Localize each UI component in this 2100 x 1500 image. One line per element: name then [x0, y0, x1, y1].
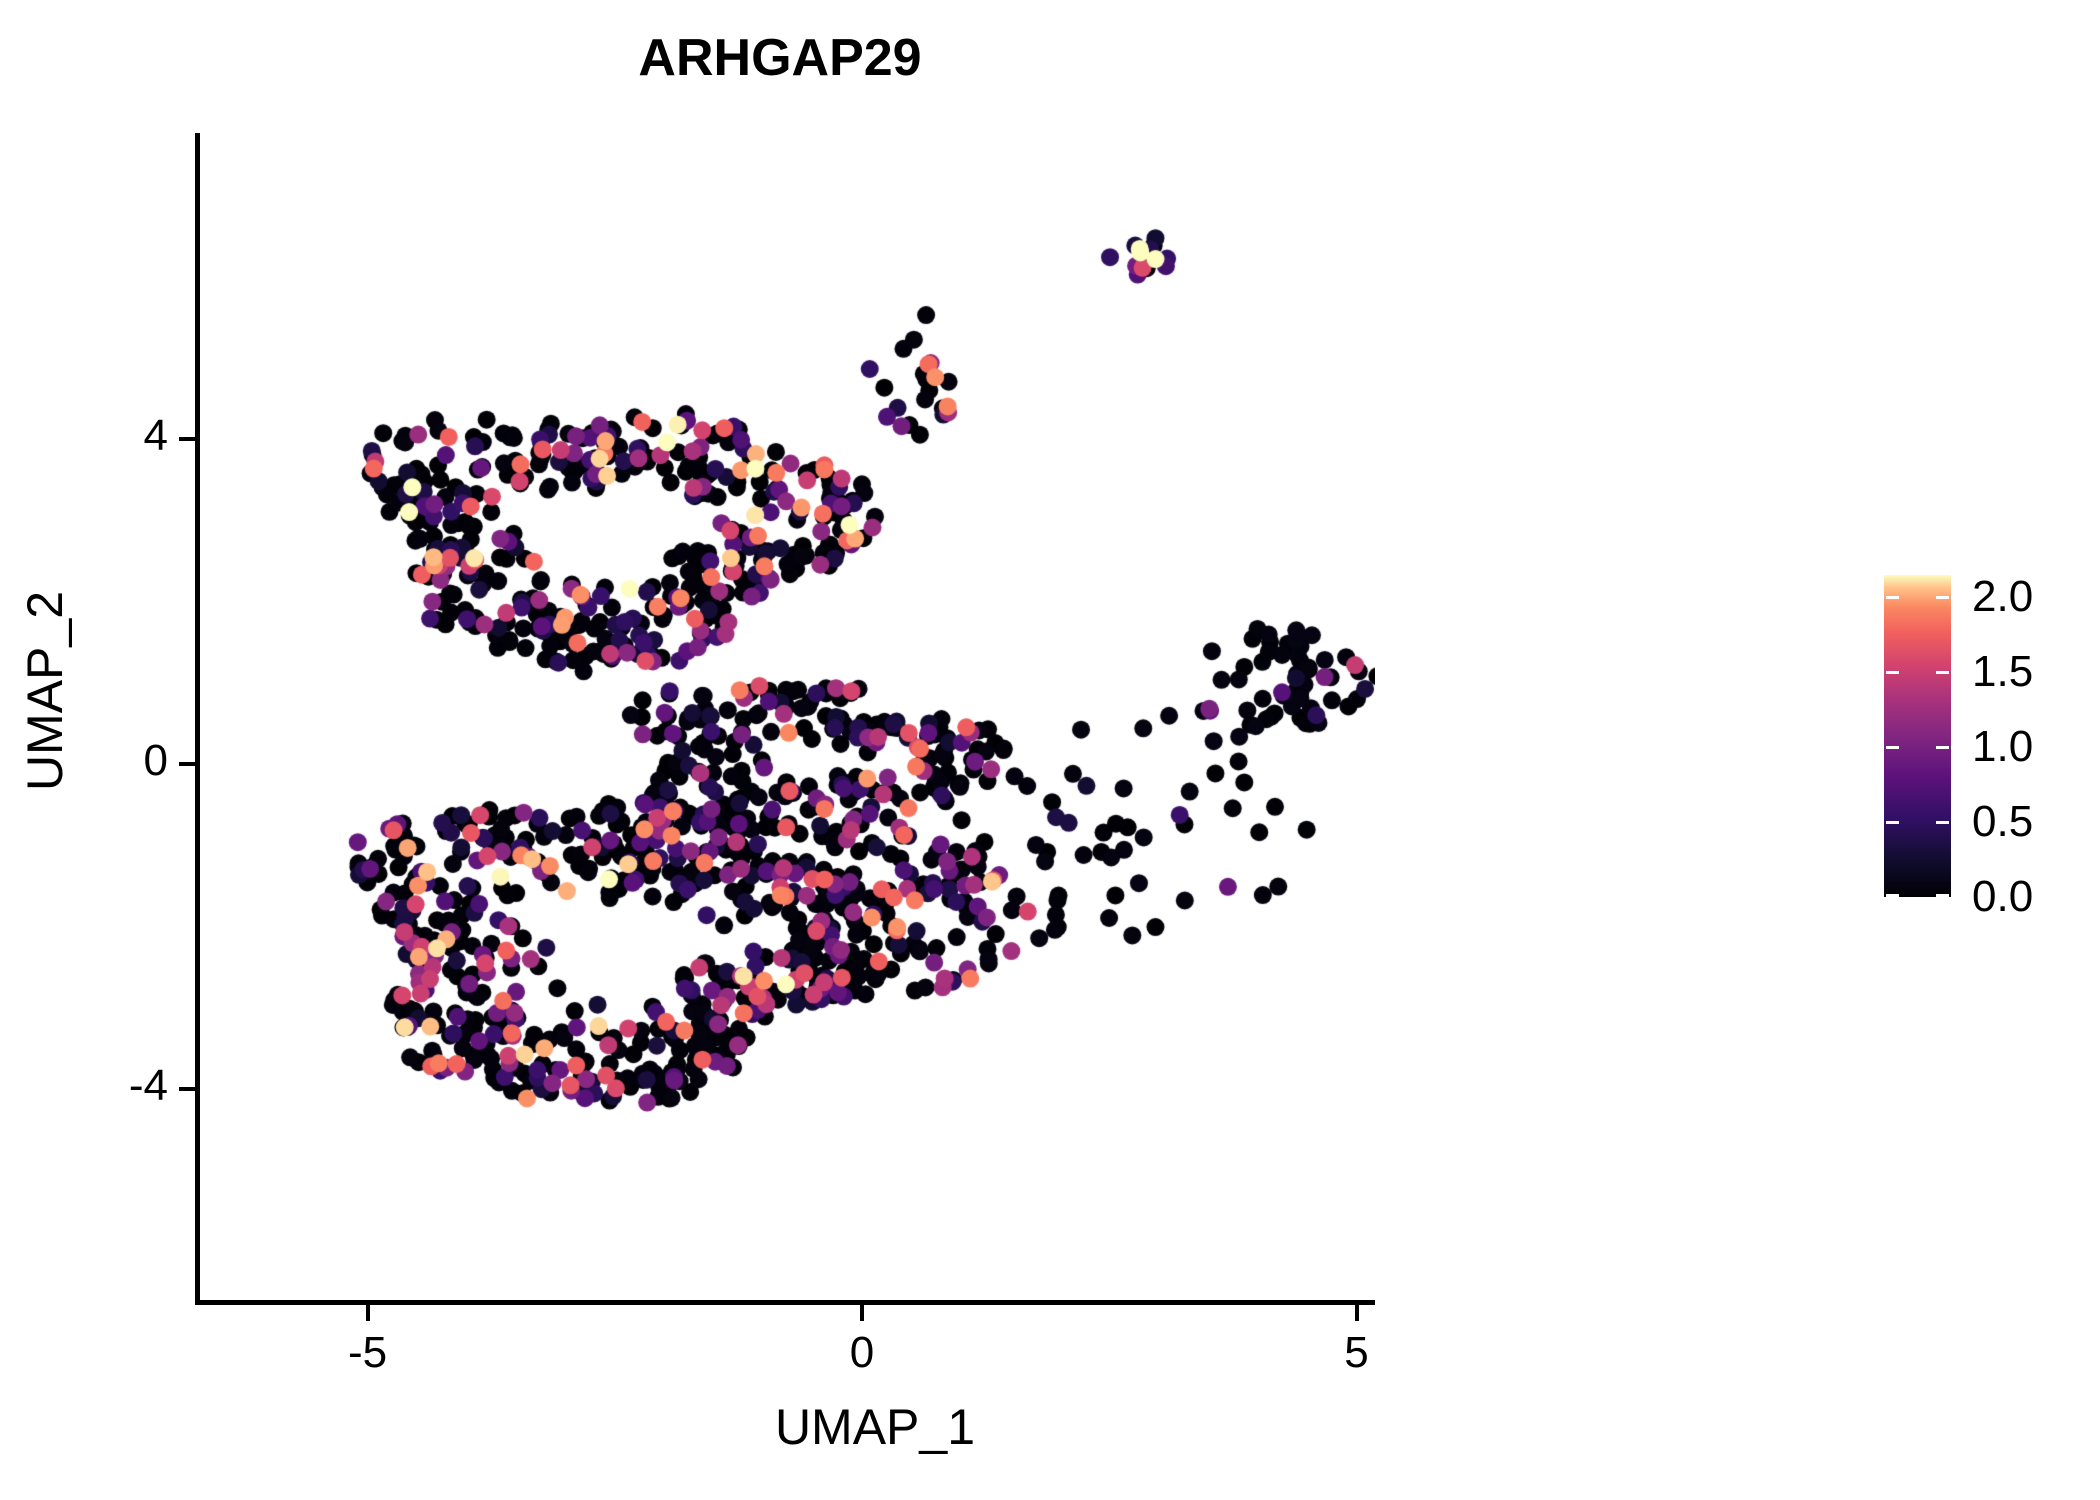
colorbar-tick-label: 1.5	[1972, 647, 2033, 697]
y-axis-line	[195, 133, 200, 1305]
x-tick-label: 5	[1297, 1328, 1417, 1378]
colorbar-tick-mark	[1936, 746, 1949, 749]
scatter-points-layer	[195, 135, 1375, 1302]
page-title: ARHGAP29	[0, 28, 1560, 88]
colorbar-tick-mark	[1936, 894, 1949, 897]
colorbar-tick-label: 2.0	[1972, 572, 2033, 622]
x-axis-title: UMAP_1	[595, 1398, 1155, 1456]
colorbar-tick-mark	[1886, 894, 1899, 897]
colorbar-tick-mark	[1886, 821, 1899, 824]
scatter-plot-panel	[195, 135, 1375, 1302]
x-tick-mark	[860, 1305, 864, 1321]
figure-root: ARHGAP29 40-4 -505 UMAP_1 UMAP_2 2.01.51…	[0, 0, 2100, 1500]
colorbar-tick-mark	[1886, 746, 1899, 749]
x-tick-label: -5	[308, 1328, 428, 1378]
colorbar-tick-mark	[1936, 821, 1949, 824]
x-tick-label: 0	[802, 1328, 922, 1378]
colorbar-tick-mark	[1886, 671, 1899, 674]
y-axis-title: UMAP_2	[16, 411, 74, 971]
colorbar-tick-label: 0.0	[1972, 872, 2033, 922]
colorbar-tick-label: 0.5	[1972, 797, 2033, 847]
gradient-bar-icon	[1884, 575, 1951, 897]
colorbar-tick-label: 1.0	[1972, 722, 2033, 772]
colorbar-tick-mark	[1936, 596, 1949, 599]
colorbar-tick-mark	[1886, 596, 1899, 599]
colorbar-legend: 2.01.51.00.50.0	[1884, 575, 2074, 905]
x-tick-mark	[366, 1305, 370, 1321]
colorbar-tick-mark	[1936, 671, 1949, 674]
x-tick-mark	[1355, 1305, 1359, 1321]
y-tick-label: -4	[0, 1061, 192, 1111]
x-axis-line	[195, 1300, 1375, 1305]
